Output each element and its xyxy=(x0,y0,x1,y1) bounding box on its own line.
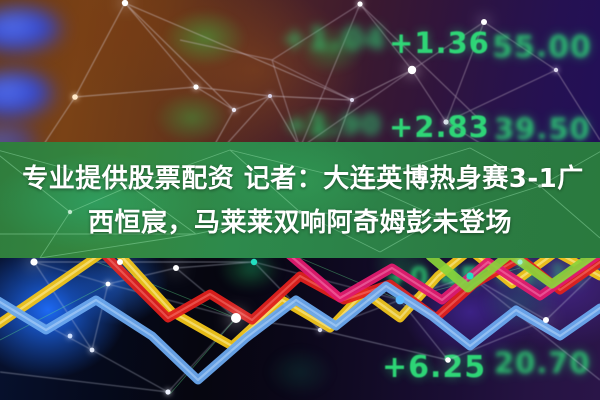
headline-block: 专业提供股票配资 记者：大连英博热身赛3-1广 西恒宸，马莱莱双响阿奇姆彭未登场 xyxy=(0,150,600,252)
ticker-value: +2.83 xyxy=(389,110,490,144)
bottom-green-glow-blobs xyxy=(0,252,600,400)
ticker-value: +1.90 xyxy=(284,108,382,141)
ticker-value: 55.00 xyxy=(492,30,592,65)
blue-glow-blob xyxy=(0,8,64,54)
banner-image: +1.04 +1.36 55.00 +1.90 +2.83 39.50 +0.4… xyxy=(0,0,600,400)
ticker-value: +1.04 xyxy=(282,22,386,57)
ticker-value: +1.36 xyxy=(389,26,490,60)
top-gradient-background xyxy=(0,0,600,146)
blue-glow-blob xyxy=(0,72,56,120)
headline-line-2: 西恒宸，马莱莱双响阿奇姆彭未登场 xyxy=(88,203,512,243)
top-green-glow-blobs xyxy=(0,0,600,146)
headline-line-1: 专业提供股票配资 记者：大连英博热身赛3-1广 xyxy=(22,159,584,199)
ticker-value: 39.50 xyxy=(494,112,591,146)
